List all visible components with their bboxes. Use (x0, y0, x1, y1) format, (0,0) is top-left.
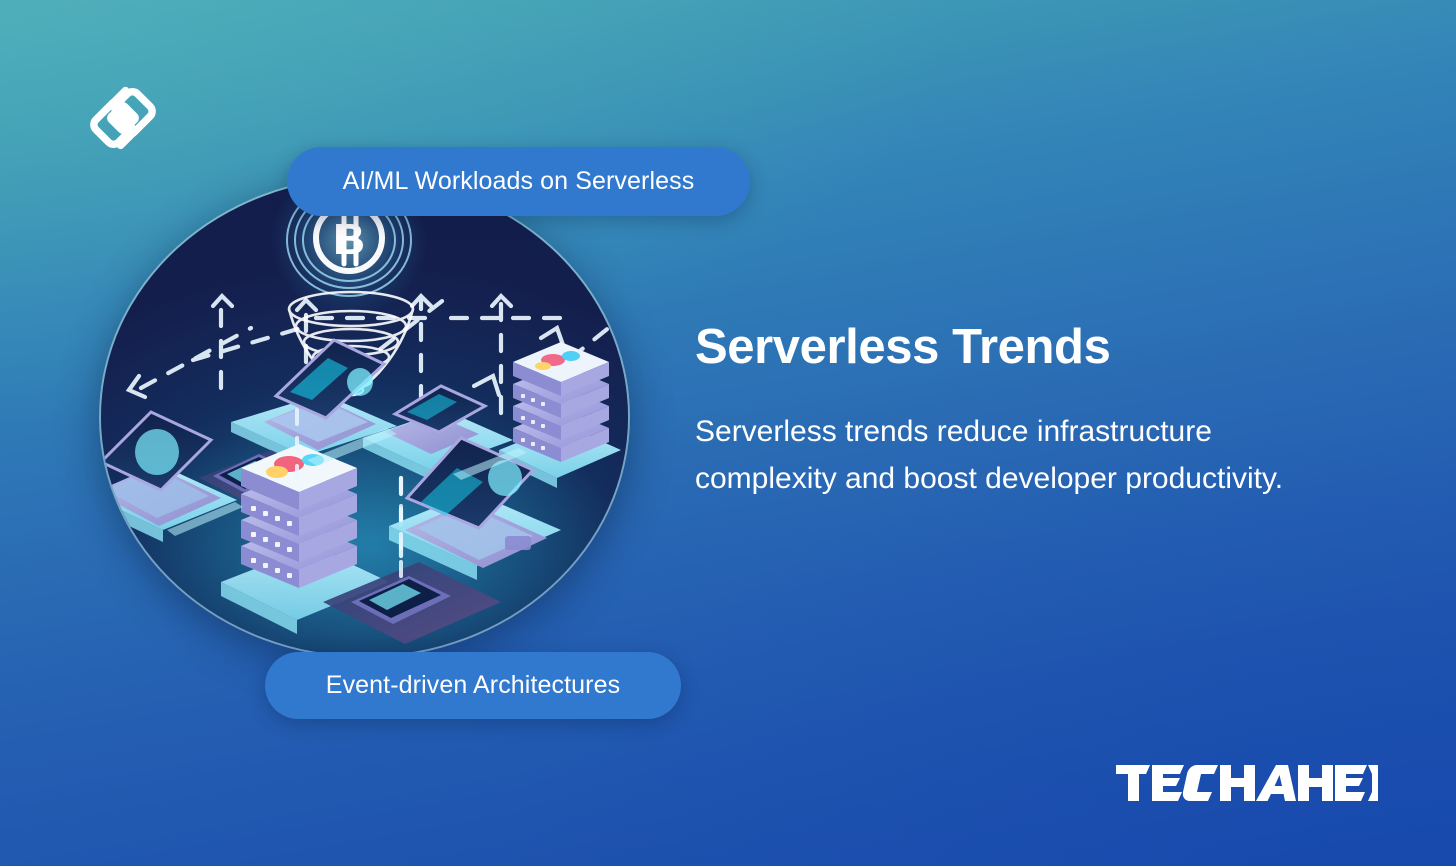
techahead-wordmark: TECHAHEAD (1116, 763, 1378, 803)
tag-pill-label: AI/ML Workloads on Serverless (343, 167, 695, 196)
interlocking-diamonds-logo (83, 78, 163, 158)
slide-canvas: B (0, 0, 1456, 866)
page-title: Serverless Trends (695, 322, 1375, 374)
page-description: Serverless trends reduce infrastructure … (695, 408, 1335, 503)
isometric-serverless-network-illustration: B (101, 178, 628, 656)
tag-pill-event-driven-architectures[interactable]: Event-driven Architectures (265, 652, 681, 719)
tag-pill-label: Event-driven Architectures (326, 671, 620, 700)
tag-pill-ai-ml-workloads[interactable]: AI/ML Workloads on Serverless (287, 147, 750, 216)
svg-text:B: B (333, 215, 365, 264)
content-block: Serverless Trends Serverless trends redu… (695, 322, 1375, 503)
